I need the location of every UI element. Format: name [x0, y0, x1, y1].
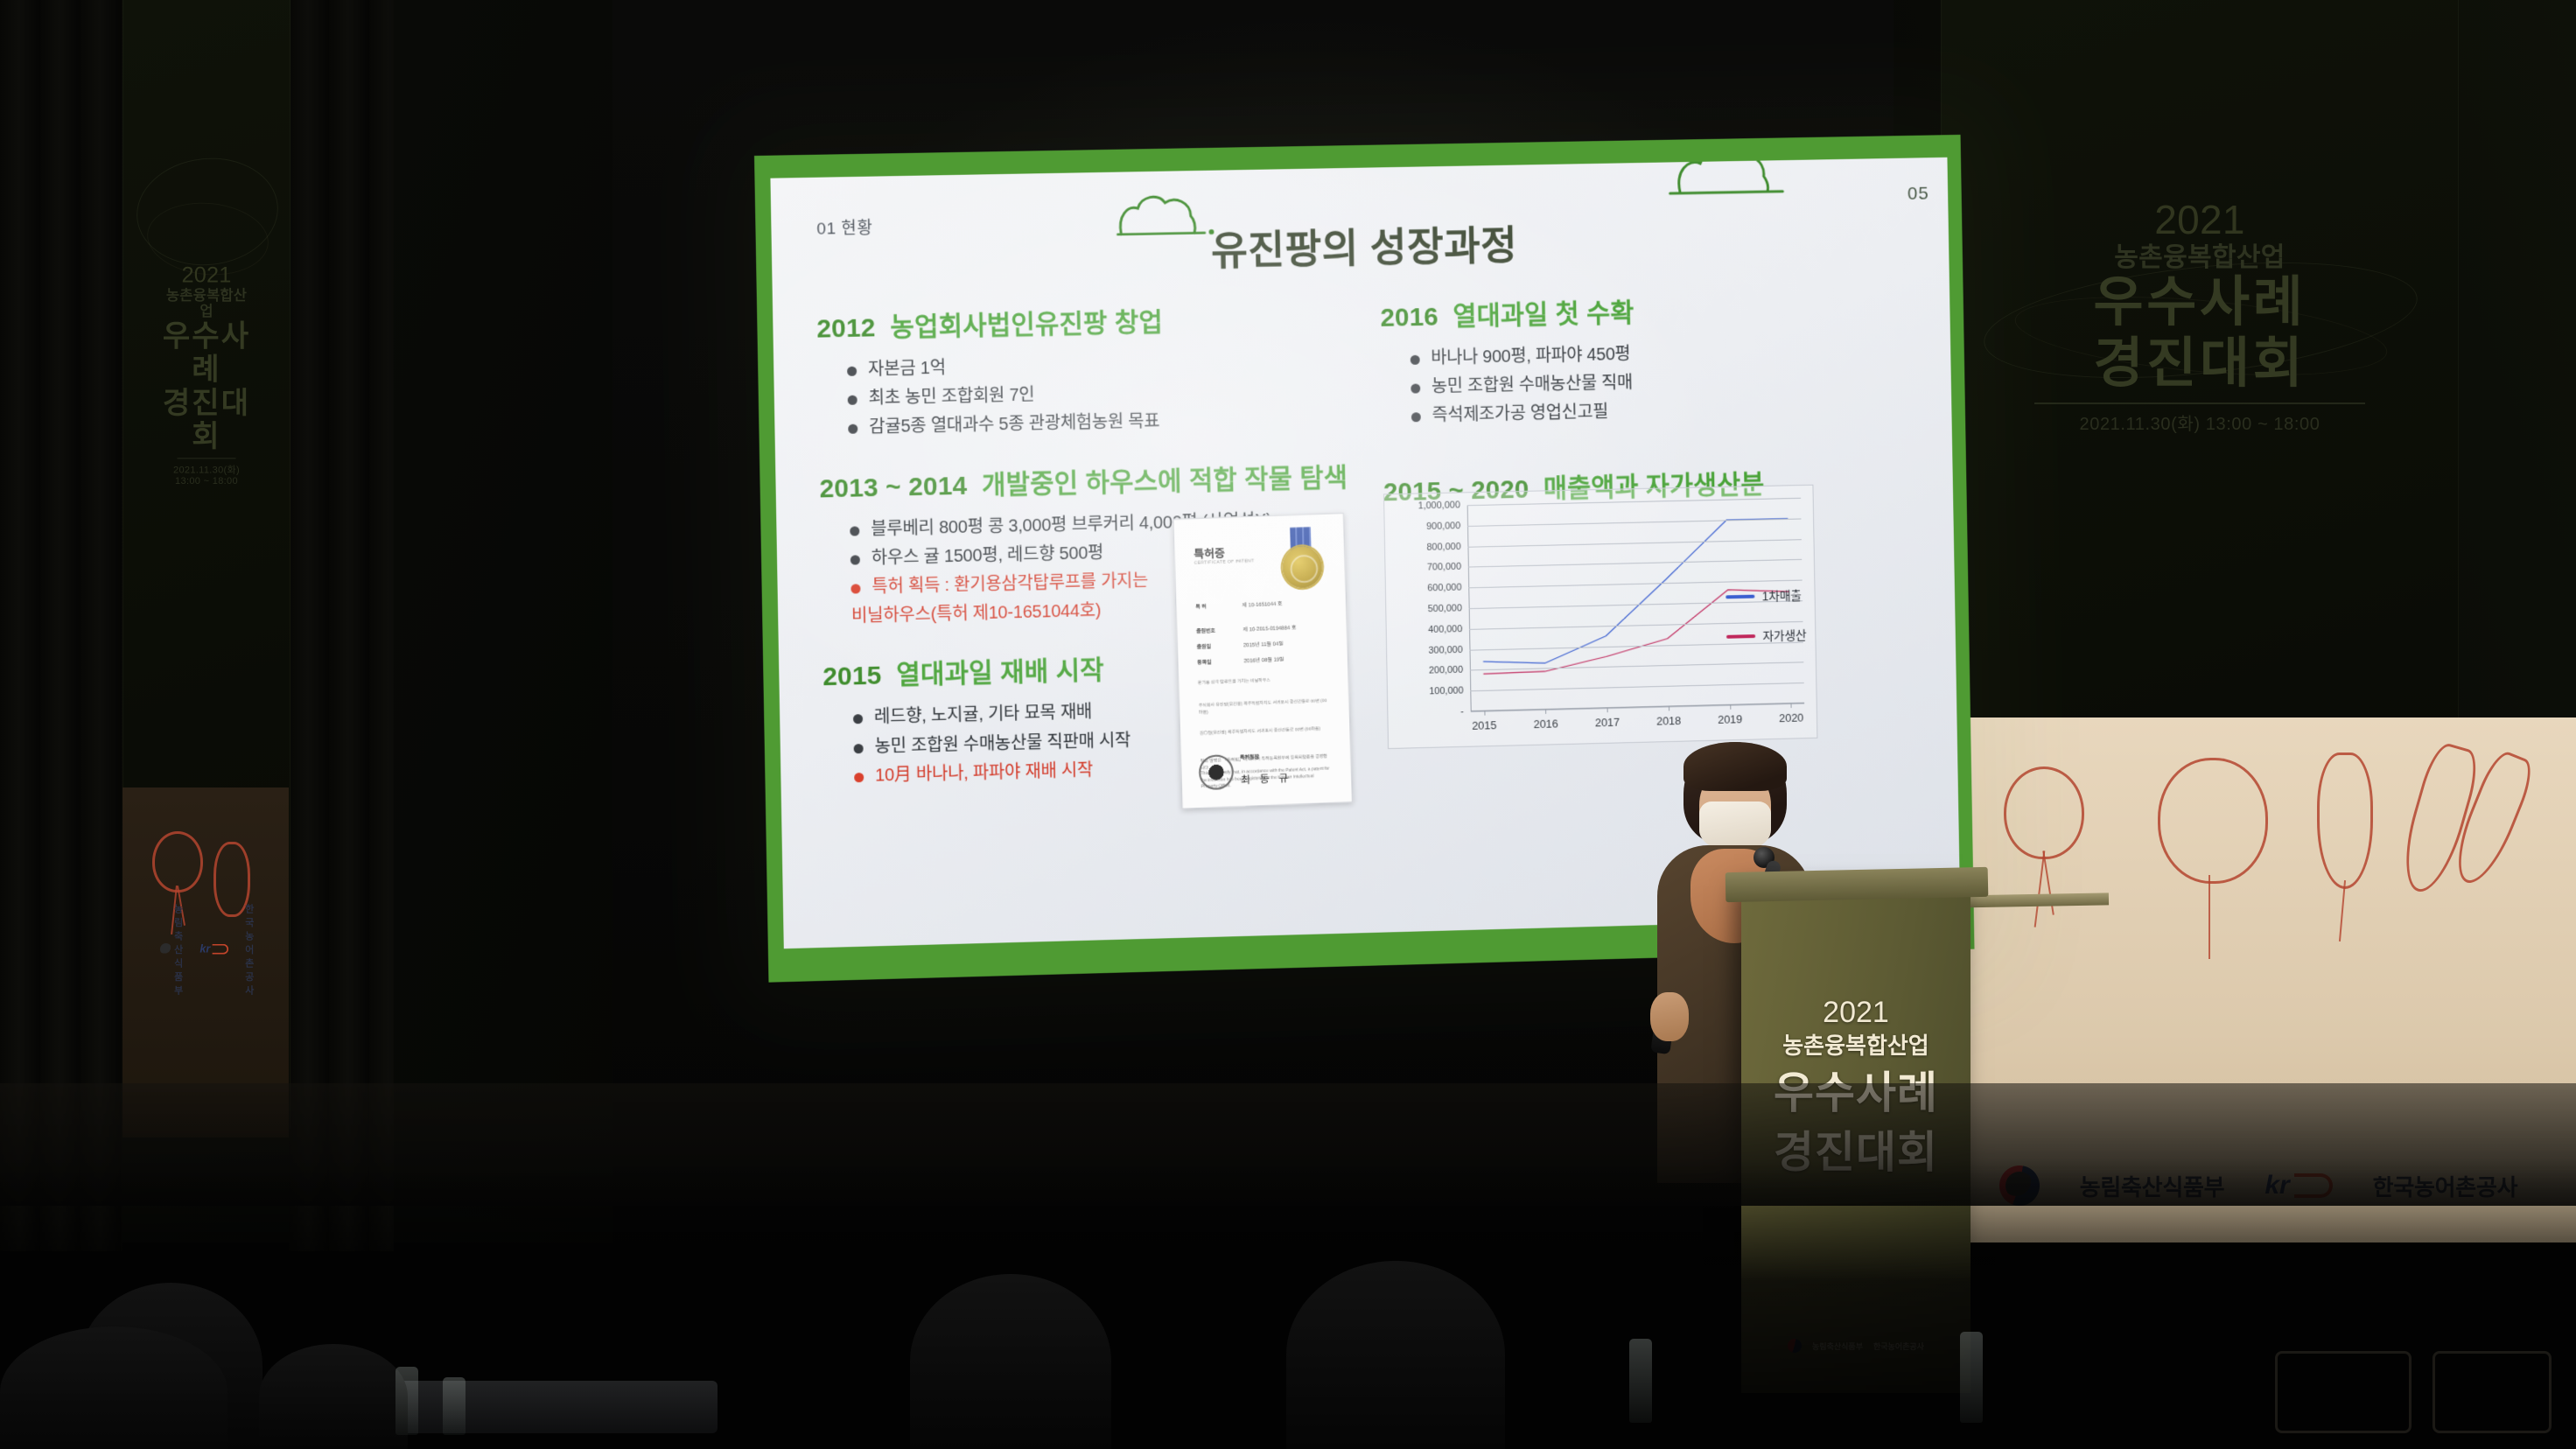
podium-subtitle: 농촌융복합산업 — [1782, 1032, 1928, 1059]
water-bottle — [395, 1367, 418, 1435]
speaker-fringe — [1683, 742, 1787, 791]
kr-logo-text: kr — [199, 942, 210, 955]
root-line — [2208, 875, 2210, 959]
certificate-row-value: 2016년 08월 19일 — [1243, 654, 1284, 664]
chart-y-tick-label: 400,000 — [1428, 624, 1462, 635]
certificate-row-label: 등록일 — [1197, 658, 1212, 667]
curtain-mid — [289, 0, 394, 1251]
chart-x-tick — [1791, 703, 1792, 708]
legend-entry: 자가생산 — [1726, 626, 1807, 646]
chart-y-tick-label: - — [1460, 706, 1464, 717]
chart-y-tick-label: 900,000 — [1426, 521, 1460, 532]
legend-entry: 1차매출 — [1726, 586, 1807, 605]
certificate-inventor-line: 김〇철(유진팡) 제주특별자치도 서귀포시 중산간동로 00번 (00마을) — [1200, 726, 1329, 738]
chart-y-tick-label: 300,000 — [1428, 645, 1462, 656]
certificate-holder-line: 주식회사 유진팡(유진팡) 제주특별자치도 서귀포시 중산간동로 00번 (00… — [1199, 698, 1328, 717]
kr-mark-left: kr — [199, 942, 227, 955]
chart-x-tick-label: 2020 — [1779, 711, 1803, 725]
certificate-footer-ko: 특허청장 — [1240, 752, 1259, 761]
banner-left-rule — [178, 458, 236, 459]
timeline-block-2016: 2016 열대과일 첫 수확 바나나 900평, 파파야 450평 농민 조합원… — [1380, 287, 1862, 432]
audience-head — [910, 1274, 1111, 1449]
banner-right-rule — [2034, 402, 2365, 404]
chart-y-tick-label: 100,000 — [1429, 686, 1463, 697]
audience-head — [1286, 1261, 1505, 1449]
audience-head — [259, 1344, 408, 1449]
bullet-list: 자본금 1억 최초 농민 조합회원 7인 감귤5종 열대과수 5종 관광체험농원… — [817, 346, 1356, 444]
water-bottle — [1629, 1339, 1652, 1423]
medal-icon — [1281, 527, 1323, 591]
chart-x-tick — [1730, 705, 1731, 710]
onion-illustration — [2158, 758, 2268, 884]
certificate-row-value: 제 10-1651044 호 — [1242, 599, 1282, 609]
legend-swatch-own — [1726, 634, 1755, 639]
banner-right-year: 2021 — [1942, 198, 2458, 243]
chart-y-tick-label: 1,000,000 — [1418, 500, 1460, 511]
certificate-signature: 최 동 규 — [1241, 770, 1292, 787]
block-heading: 2016 열대과일 첫 수확 — [1380, 287, 1860, 334]
certificate-row-value: 2015년 11월 04일 — [1243, 640, 1284, 649]
certificate-row-label: 특 허 — [1195, 602, 1207, 610]
turnip-illustration — [2004, 766, 2084, 859]
audience-chair — [2275, 1351, 2411, 1433]
banner-right-line1: 우수사례 — [1942, 272, 2458, 332]
stage-scene: 2021 농촌융복합산업 우수사례 경진대회 2021.11.30(화) 13:… — [0, 0, 2576, 1449]
water-bottle — [443, 1377, 465, 1435]
ministry-logo-left: 농림축산식품부 — [174, 901, 183, 997]
banner-right-subtitle: 농촌융복합산업 — [1942, 243, 2458, 273]
chart-y-tick-label: 800,000 — [1426, 542, 1460, 553]
corporation-logo-left: 한국농어촌공사 — [245, 901, 254, 997]
block-year: 2016 — [1380, 303, 1438, 332]
block-title: 열대과일 재배 시작 — [896, 656, 1104, 690]
timeline-block-2012: 2012 농업회사법인유진팡 창업 자본금 1억 최초 농민 조합회원 7인 감… — [816, 297, 1356, 444]
banner-left-subtitle: 농촌융복합산업 — [161, 287, 253, 319]
block-year: 2013 ~ 2014 — [819, 471, 967, 503]
chart-x-tick-label: 2018 — [1656, 714, 1682, 728]
certificate-row-label: 출원번호 — [1196, 626, 1215, 635]
slide-title: 유진팡의 성장과정 — [771, 206, 1949, 285]
turnip-illustration — [152, 831, 203, 892]
certificate-row-label: 출원일 — [1197, 642, 1212, 651]
audience-chair — [2432, 1351, 2551, 1433]
banner-right-date: 2021.11.30(화) 13:00 ~ 18:00 — [1942, 415, 2458, 434]
chart-legend: 1차매출 자가생산 — [1726, 586, 1808, 668]
chart-x-tick — [1545, 710, 1546, 714]
slide-page-number: 05 — [1907, 184, 1929, 205]
block-heading: 2013 ~ 2014 개발중인 하우스에 적합 작물 탐색 — [819, 455, 1357, 505]
block-year: 2012 — [816, 313, 876, 343]
chart-x-tick — [1669, 706, 1669, 710]
chart-y-tick-label: 700,000 — [1427, 562, 1461, 573]
audience-head — [0, 1326, 227, 1449]
chart-y-tick-label: 200,000 — [1429, 665, 1463, 676]
patent-certificate-image: 특허증 CERTIFICATE OF PATENT 특 허 제 10-16510… — [1172, 513, 1353, 809]
certificate-invention-line: 환기용 삼각 탑루프를 가지는 비닐하우스 — [1198, 675, 1327, 687]
curtain-left — [0, 0, 122, 1251]
legend-label-sales: 1차매출 — [1761, 586, 1802, 605]
banner-left-year: 2021 — [161, 262, 253, 287]
block-year: 2015 — [822, 661, 882, 692]
podium-year: 2021 — [1823, 996, 1889, 1030]
banner-left-line1: 우수사례 — [161, 319, 253, 386]
water-bottle — [1960, 1332, 1983, 1423]
certificate-subtitle: CERTIFICATE OF PATENT — [1194, 558, 1255, 565]
podium-top-surface — [1725, 867, 1989, 902]
root-line — [2339, 880, 2346, 941]
chart-y-tick-label: 500,000 — [1428, 603, 1462, 614]
block-title: 열대과일 첫 수확 — [1452, 298, 1634, 331]
sales-chart: -100,000200,000300,000400,000500,000600,… — [1383, 485, 1817, 749]
bullet-list: 바나나 900평, 파파야 450평 농민 조합원 수매농산물 직매 즉석제조가… — [1381, 336, 1862, 432]
block-title: 개발중인 하우스에 적합 작물 탐색 — [982, 463, 1348, 500]
chart-x-tick-label: 2019 — [1718, 712, 1742, 726]
certificate-row-value: 제 10-2015-0194884 호 — [1242, 623, 1296, 633]
seal-icon — [1282, 546, 1323, 589]
audience-foreground — [0, 1160, 2576, 1449]
chart-x-tick-label: 2016 — [1533, 717, 1558, 731]
chart-x-tick-label: 2017 — [1595, 716, 1620, 730]
kr-swoop-icon — [212, 944, 227, 955]
banner-left-date: 2021.11.30(화) 13:00 ~ 18:00 — [161, 465, 253, 486]
radish-illustration — [2317, 752, 2373, 889]
banner-left-line2: 경진대회 — [161, 387, 253, 453]
legend-swatch-sales — [1726, 594, 1755, 598]
chart-x-tick-label: 2015 — [1472, 718, 1497, 732]
cloud-icon — [1666, 157, 1790, 199]
chart-x-tick — [1484, 711, 1485, 716]
banner-right-line2: 경진대회 — [1942, 333, 2458, 394]
speaker-hand-left — [1650, 992, 1689, 1041]
legend-label-own: 자가생산 — [1762, 626, 1807, 645]
chart-x-tick — [1607, 708, 1608, 712]
block-heading: 2012 농업회사법인유진팡 창업 — [816, 297, 1354, 346]
chart-y-tick-label: 600,000 — [1427, 583, 1461, 594]
face-mask — [1699, 801, 1771, 850]
block-title: 농업회사법인유진팡 창업 — [890, 308, 1163, 342]
